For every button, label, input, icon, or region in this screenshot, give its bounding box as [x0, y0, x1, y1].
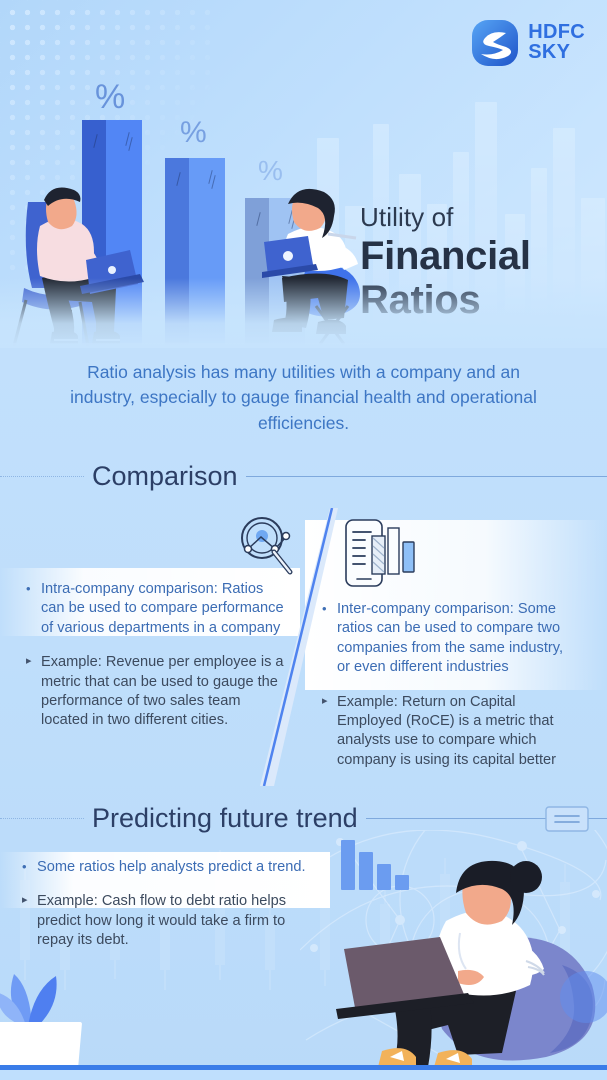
list-item: Intra-company comparison: Ratios can be …: [26, 580, 288, 638]
list-item: Example: Revenue per employee is a metri…: [26, 653, 288, 731]
percent-symbol-icon: %: [95, 78, 125, 117]
brand-name: HDFC SKY: [528, 23, 585, 62]
section-heading-comparison: Comparison: [0, 461, 607, 492]
dotted-rule-left: [0, 818, 84, 819]
title-small: Utility of: [360, 202, 600, 233]
solid-rule-right: [246, 476, 607, 477]
list-item: Some ratios help analysts predict a tren…: [22, 858, 318, 877]
title-line-1: Financial: [360, 235, 600, 277]
hdfc-sky-logo-icon: [471, 19, 519, 67]
brand-logo[interactable]: HDFC SKY: [471, 19, 585, 67]
hero-bottom-fade: [0, 278, 607, 348]
dotted-rule-left: [0, 476, 84, 477]
bottom-accent-rule: [0, 1065, 607, 1070]
percent-symbol-icon: %: [180, 116, 207, 150]
magnifying-glass-chart-icon: [228, 512, 314, 582]
list-item: Example: Return on Capital Employed (RoC…: [322, 693, 580, 771]
intro-paragraph: Ratio analysis has many utilities with a…: [0, 360, 607, 436]
column-inter-company: Inter-company comparison: Some ratios ca…: [322, 600, 580, 785]
section-title: Comparison: [84, 461, 246, 492]
woman-with-laptop-illustration: [330, 845, 607, 1070]
bottom-strip: [0, 1070, 607, 1080]
hero-section: % % %: [0, 0, 607, 348]
list-item: Inter-company comparison: Some ratios ca…: [322, 600, 580, 678]
document-card-icon: [545, 806, 589, 832]
brand-name-line2: SKY: [528, 43, 585, 63]
mobile-stock-chart-icon: [340, 518, 418, 590]
infographic-page: % % %: [0, 0, 607, 1080]
list-item: Example: Cash flow to debt ratio helps p…: [22, 892, 318, 950]
plant-leaf-icon: [0, 950, 84, 1028]
column-intra-company: Intra-company comparison: Ratios can be …: [26, 580, 288, 746]
plant-pot: [0, 1022, 82, 1070]
